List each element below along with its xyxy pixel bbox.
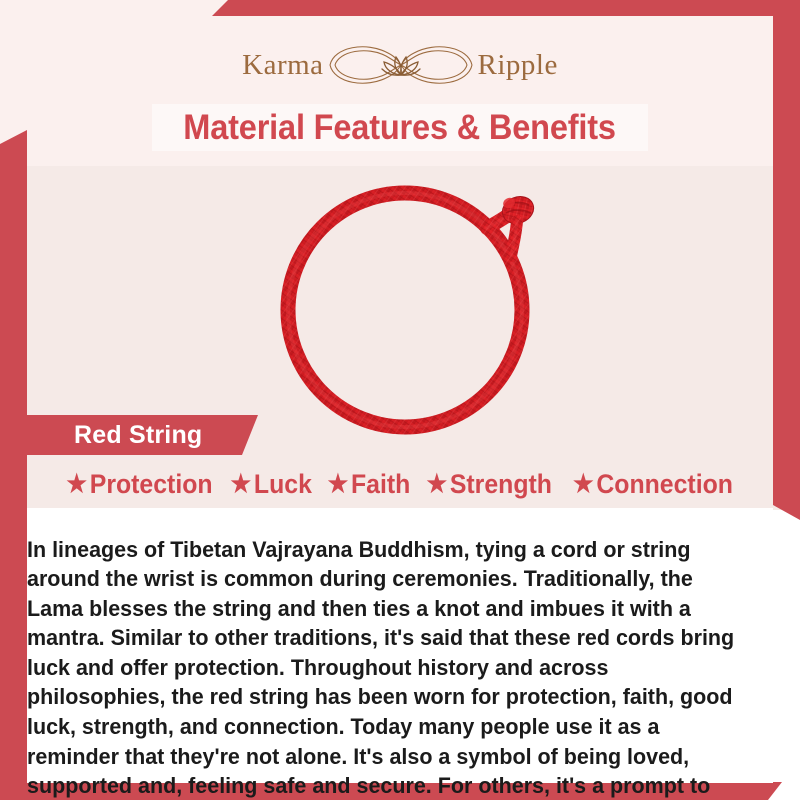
star-icon: ★ — [573, 472, 594, 497]
material-banner-label: Red String — [74, 421, 202, 450]
feature-label: Faith — [351, 469, 410, 500]
star-icon: ★ — [327, 472, 348, 497]
features-row: ★ Protection ★ Luck ★ Faith ★ Strength ★… — [27, 464, 773, 504]
star-icon: ★ — [67, 472, 88, 497]
page-title-band: Material Features & Benefits — [152, 104, 648, 151]
feature-item-faith: ★ Faith — [327, 469, 410, 500]
infographic-page: Karma — [0, 0, 800, 800]
star-icon: ★ — [427, 472, 448, 497]
feature-item-strength: ★ Strength — [427, 469, 553, 500]
star-icon: ★ — [231, 472, 252, 497]
description-panel: In lineages of Tibetan Vajrayana Buddhis… — [27, 508, 773, 783]
left-red-strip — [0, 130, 27, 790]
brand-name-right: Ripple — [478, 51, 558, 80]
brand-name-left: Karma — [242, 51, 323, 80]
feature-item-protection: ★ Protection — [67, 469, 213, 500]
feature-label: Luck — [254, 469, 312, 500]
lotus-flourish-icon — [326, 37, 476, 93]
product-image — [255, 176, 565, 438]
description-text: In lineages of Tibetan Vajrayana Buddhis… — [27, 535, 739, 800]
feature-label: Strength — [450, 469, 552, 500]
feature-label: Protection — [90, 469, 213, 500]
page-title: Material Features & Benefits — [184, 108, 617, 148]
feature-label: Connection — [596, 469, 733, 500]
brand-logo: Karma — [0, 36, 800, 94]
feature-item-connection: ★ Connection — [573, 469, 733, 500]
material-banner: Red String — [18, 415, 258, 455]
feature-item-luck: ★ Luck — [231, 469, 312, 500]
